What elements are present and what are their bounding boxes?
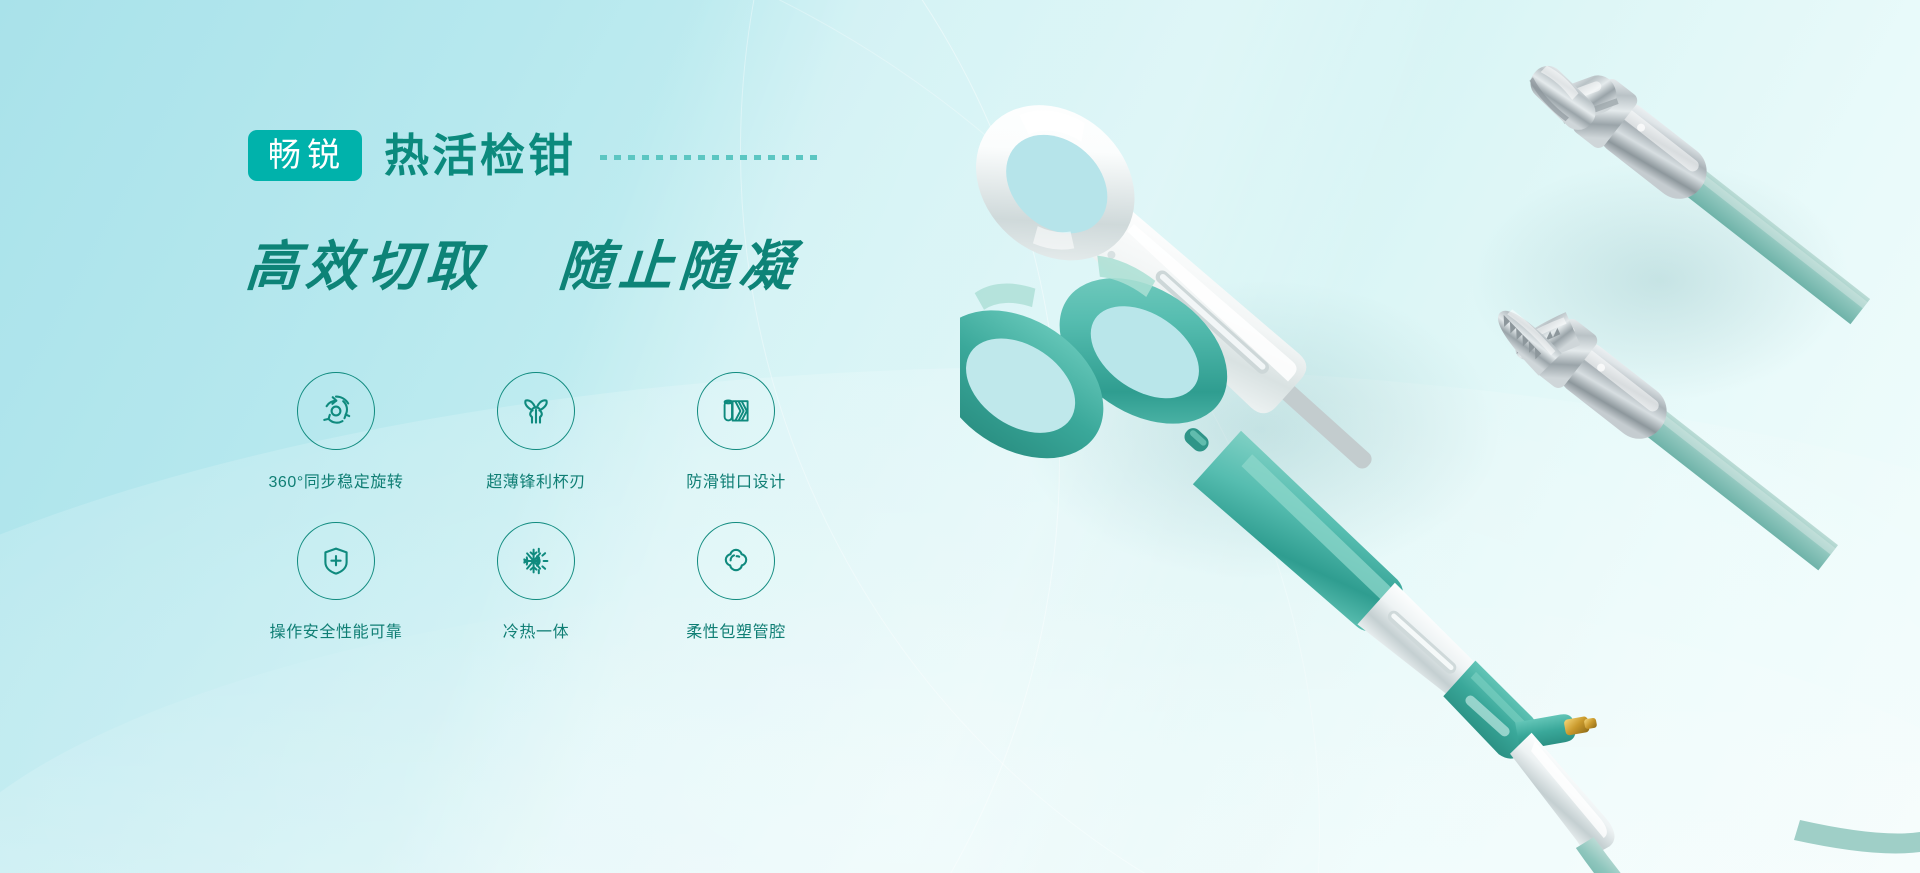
feature-label: 柔性包塑管腔 xyxy=(686,618,786,642)
feature-label: 超薄锋利杯刃 xyxy=(486,468,586,492)
feature-label: 防滑钳口设计 xyxy=(686,468,786,492)
banner-text-column: 畅锐 热活检钳 高效切取 随止随凝 xyxy=(0,0,1020,873)
dotted-rule xyxy=(600,155,822,160)
feature-item-anti-slip: 防滑钳口设计 xyxy=(636,372,836,522)
product-banner: 畅锐 热活检钳 高效切取 随止随凝 xyxy=(0,0,1920,873)
rotation-360-icon xyxy=(297,372,375,450)
hot-cold-icon xyxy=(497,522,575,600)
slogan-part-2: 随止随凝 xyxy=(557,237,801,297)
slogan-part-1: 高效切取 xyxy=(244,237,488,297)
brand-badge: 畅锐 xyxy=(248,130,362,181)
product-name: 热活检钳 xyxy=(384,133,576,178)
feature-item-hot-cold: 冷热一体 xyxy=(436,522,636,672)
feature-item-rotation: 360°同步稳定旋转 xyxy=(236,372,436,522)
feature-grid: 360°同步稳定旋转 超薄锋利杯刃 xyxy=(236,372,836,672)
feature-item-cup-blade: 超薄锋利杯刃 xyxy=(436,372,636,522)
feature-item-flexible-lumen: 柔性包塑管腔 xyxy=(636,522,836,672)
anti-slip-jaw-icon xyxy=(697,372,775,450)
title-row: 畅锐 热活检钳 xyxy=(248,130,822,181)
forceps-cup-icon xyxy=(497,372,575,450)
flexible-lumen-icon xyxy=(697,522,775,600)
feature-label: 操作安全性能可靠 xyxy=(270,618,403,642)
feature-label: 360°同步稳定旋转 xyxy=(268,468,403,492)
slogan: 高效切取 随止随凝 xyxy=(243,222,802,301)
feature-label: 冷热一体 xyxy=(503,618,569,642)
feature-item-safety: 操作安全性能可靠 xyxy=(236,522,436,672)
shield-plus-icon xyxy=(297,522,375,600)
